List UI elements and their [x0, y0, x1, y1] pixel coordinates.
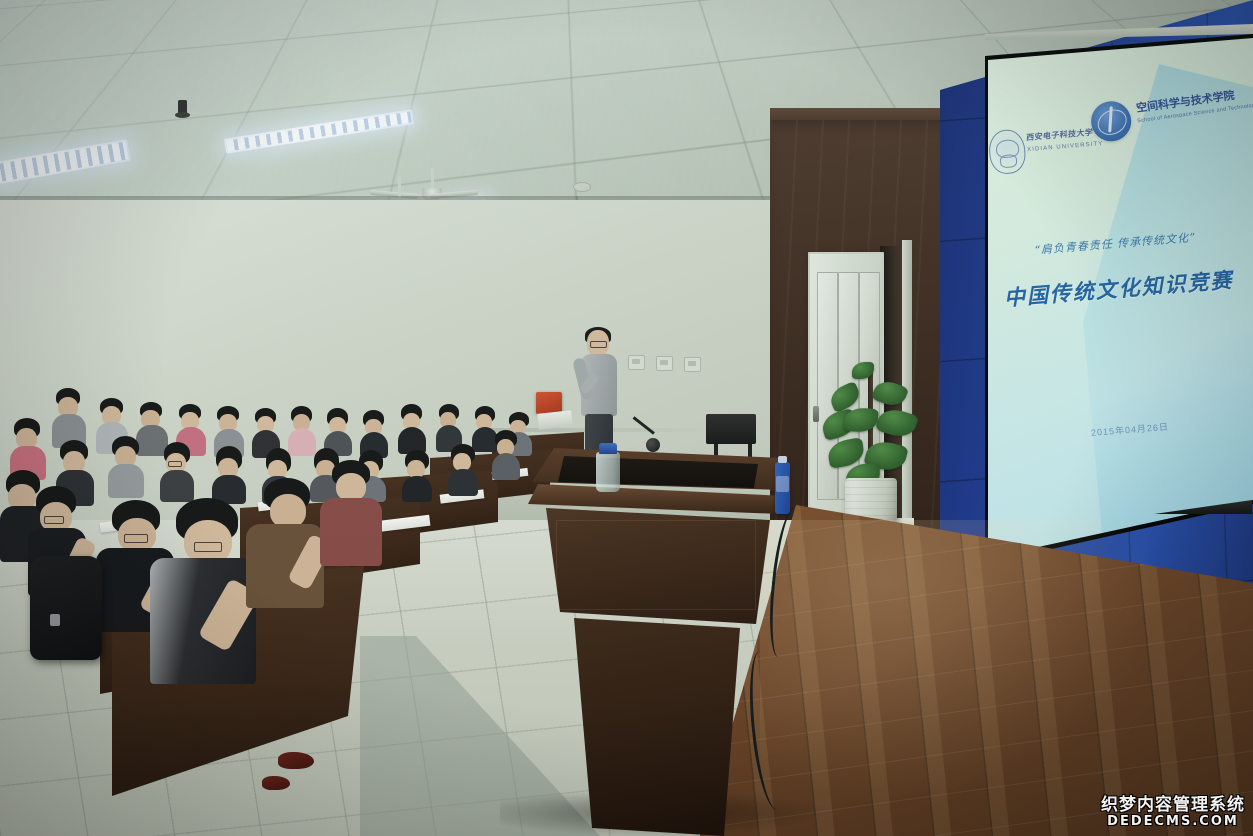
student: [402, 450, 432, 502]
student-front-center: [150, 498, 256, 684]
fan-rod: [431, 168, 434, 190]
student: [448, 444, 478, 496]
slide-main-title: 中国传统文化知识竞赛: [985, 263, 1253, 314]
water-bottle: [596, 452, 620, 492]
classroom-photo-scene: 西安电子科技大学 XIDIAN UNIVERSITY 空间科学与技术学院 Sch…: [0, 0, 1253, 836]
fan-rod: [398, 176, 401, 198]
podium-base-column: [574, 618, 740, 836]
slide-subtitle: “肩负青春责任 传承传统文化”: [985, 225, 1249, 262]
student: [108, 436, 144, 498]
student-glasses: [168, 461, 182, 467]
student-glasses: [44, 516, 64, 524]
plant-leaf: [871, 377, 909, 410]
black-backpack: [30, 556, 102, 660]
student: [160, 442, 194, 502]
student-head: [270, 494, 306, 528]
projected-slide-surface: 西安电子科技大学 XIDIAN UNIVERSITY 空间科学与技术学院 Sch…: [985, 34, 1253, 564]
student: [398, 404, 426, 454]
proctor-head: [587, 330, 609, 356]
slide-logo-row: 西安电子科技大学 XIDIAN UNIVERSITY 空间科学与技术学院 Sch…: [986, 89, 1222, 185]
student: [492, 430, 520, 480]
student-shoe: [262, 776, 290, 790]
student-torso: [320, 498, 382, 566]
student-front-right: [246, 478, 324, 608]
slide-date: 2015年04月26日: [996, 412, 1253, 446]
xidian-seal-icon: [988, 128, 1027, 175]
sprinkler-head: [178, 100, 187, 114]
wall-outlet[interactable]: [684, 357, 701, 372]
student-glasses: [194, 542, 222, 552]
university-name-cn: 西安电子科技大学: [1026, 127, 1094, 143]
student: [212, 446, 246, 504]
ceiling-fan: [394, 176, 404, 196]
bottle-cap: [599, 443, 617, 454]
watermark-chinese: 织梦内容管理系统: [1101, 796, 1245, 815]
aerospace-school-logo-icon: [1090, 100, 1133, 143]
wall-outlet[interactable]: [656, 356, 673, 371]
presentation-slide: 西安电子科技大学 XIDIAN UNIVERSITY 空间科学与技术学院 Sch…: [985, 34, 1253, 563]
student-torso: [402, 476, 432, 502]
university-name-en: XIDIAN UNIVERSITY: [1027, 141, 1104, 153]
student-torso: [448, 469, 478, 496]
standing-proctor: [575, 330, 623, 460]
folding-chair: [706, 414, 756, 444]
student-torso: [492, 453, 520, 480]
proctor-glasses: [590, 341, 607, 348]
site-watermark: 织梦内容管理系统 DEDECMS.COM: [1101, 796, 1245, 830]
student-shoe: [278, 752, 314, 769]
plant-leaf: [875, 405, 919, 441]
wall-outlet[interactable]: [628, 355, 645, 370]
student-front-right: [320, 460, 382, 566]
podium-front-face: [546, 508, 770, 624]
student-head: [336, 473, 366, 501]
watermark-english: DEDECMS.COM: [1101, 815, 1245, 830]
student: [52, 388, 86, 448]
student-torso: [108, 464, 144, 498]
lecture-podium: [528, 448, 786, 836]
smoke-detector: [573, 182, 591, 192]
student-glasses: [124, 534, 148, 543]
blue-sports-bottle: [775, 462, 790, 514]
projector-screen: 西安电子科技大学 XIDIAN UNIVERSITY 空间科学与技术学院 Sch…: [985, 34, 1253, 564]
potted-plant-foliage: [818, 360, 926, 490]
